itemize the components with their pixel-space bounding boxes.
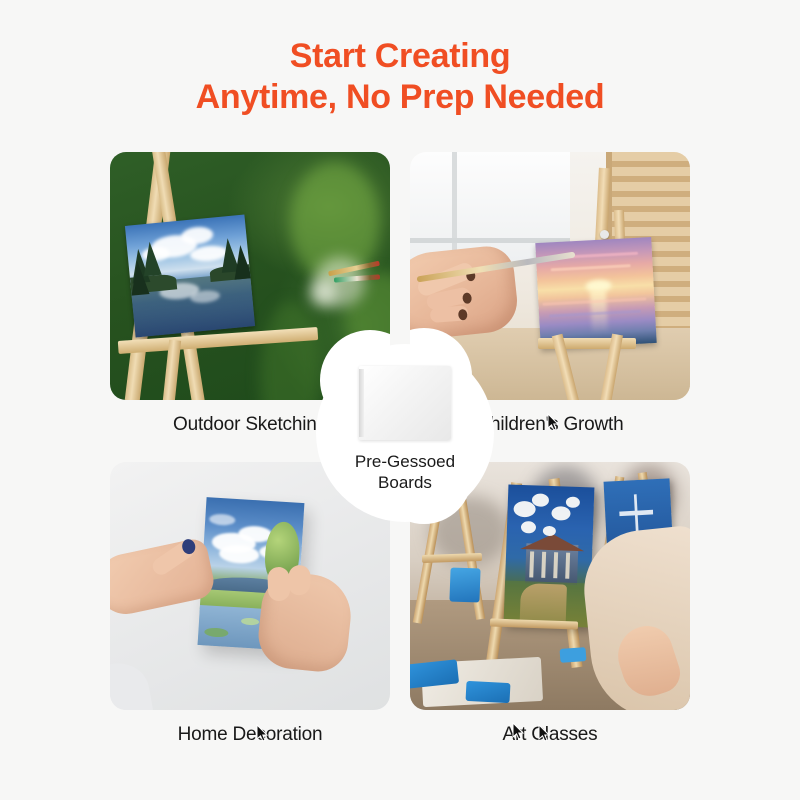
lake-pine-painting [125,215,255,338]
photo-home-decoration [110,462,390,710]
use-case-panel-home-decoration: Home Decoration [110,462,390,746]
product-badge: Pre-Gessoed Boards [320,348,490,518]
foliage-blur-icon [260,302,320,400]
blossom-shape [551,506,570,521]
paint-tray [466,681,511,703]
paint-cup [449,567,480,602]
easel-knob [600,230,609,239]
cloud-shape [209,513,236,526]
blue-house-painting [504,485,595,628]
fingernail [458,309,468,321]
pine-tree-icon [128,260,149,296]
finger [267,567,290,602]
pre-gessoed-board-image [359,366,451,440]
mouse-cursor-icon [538,724,551,743]
brush-stroke [551,264,631,271]
cloud-shape [180,226,213,246]
headline-line-1: Start Creating [290,37,511,75]
bokeh-light-icon [310,280,336,306]
mouse-cursor-icon [512,722,525,741]
photo-outdoor-sketching [110,152,390,400]
panel-caption: Home Decoration [110,724,390,746]
product-badge-label: Pre-Gessoed Boards [355,451,455,493]
blossom-shape [566,497,580,508]
product-label-line-2: Boards [355,472,455,493]
finger [288,565,312,596]
fingernail [462,292,472,304]
hand [610,619,685,703]
marketing-infographic: Start Creating Anytime, No Prep Needed [0,0,800,800]
pine-tree-icon [231,244,252,280]
page-headline: Start Creating Anytime, No Prep Needed [0,36,800,118]
headline-line-2: Anytime, No Prep Needed [0,77,800,118]
roof-shape [520,533,585,551]
mouse-cursor-icon [547,413,560,432]
use-case-panel-art-classes: Art Classes [410,462,690,746]
right-hand [255,570,355,675]
paint-blob [560,647,587,663]
sleeve [110,658,155,710]
mouse-cursor-icon [256,724,269,743]
product-label-line-1: Pre-Gessoed [355,451,455,472]
blossom-shape [521,521,536,534]
blossom-shape [532,493,549,507]
window-frame [452,152,457,260]
